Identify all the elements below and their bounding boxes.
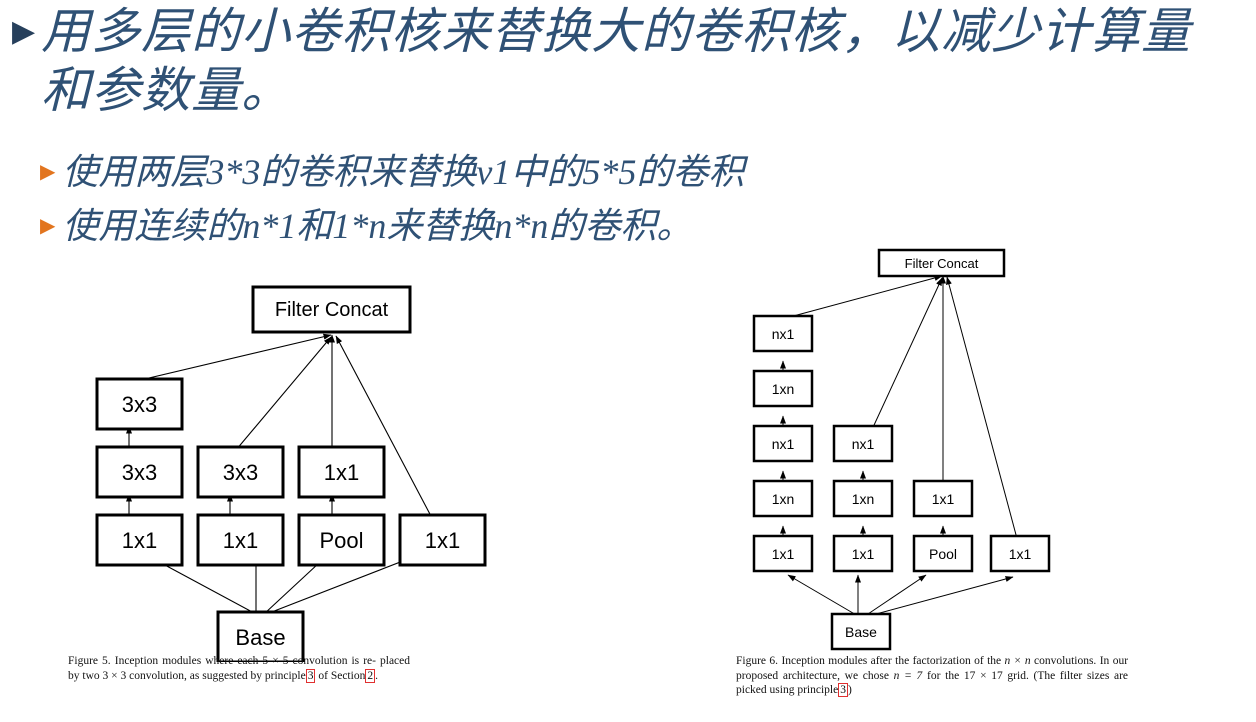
node-c1r5-label: nx1 — [772, 326, 795, 342]
node-filter-concat-label: Filter Concat — [275, 299, 389, 321]
node-filter-concat: Filter Concat — [879, 250, 1004, 276]
figure-6-caption-label: Figure 6. — [736, 655, 778, 667]
triangle-right-icon: ▶ — [12, 2, 35, 62]
node-c3r1-label: Pool — [929, 546, 957, 562]
figure-6-caption-math-nxn: n × n — [1005, 655, 1031, 667]
figure-5-svg: Filter Concat 3x3 3x3 1x1 3x3 1x1 1x1 — [60, 262, 490, 662]
triangle-right-icon: ▶ — [40, 150, 55, 194]
figure-6-caption-math-n7: n = 7 — [894, 670, 923, 682]
node-c4r1-label: 1x1 — [425, 528, 460, 553]
sub-bullet-2: ▶ 使用连续的n*1和1*n来替换n*n的卷积。 — [40, 204, 692, 248]
node-c3r2: 1x1 — [914, 481, 972, 516]
figure-6-caption-line1a: Inception modules after the factorizatio… — [781, 655, 1001, 667]
node-base-label: Base — [235, 625, 285, 650]
edge-base-to-c3r1 — [865, 575, 926, 616]
title-bullet-text: 用多层的小卷积核来替换大的卷积核，以减少计算量和参数量。 — [41, 2, 1192, 120]
node-c2r2-label: 3x3 — [223, 460, 258, 485]
node-base-label: Base — [845, 624, 877, 640]
reference-link-2[interactable]: 2 — [365, 669, 375, 683]
figure-5-caption-line2b: of — [318, 670, 328, 682]
node-c3r1-pool: Pool — [914, 536, 972, 571]
node-c4r1: 1x1 — [991, 536, 1049, 571]
edge-c1r5-to-concat — [786, 276, 942, 318]
edge-base-to-c1r1 — [788, 575, 858, 616]
edge-c1r3-to-concat — [132, 335, 331, 382]
node-c1r1-label: 1x1 — [772, 546, 795, 562]
slide-text-block: ▶ 用多层的小卷积核来替换大的卷积核，以减少计算量和参数量。 ▶ 使用两层3*3… — [0, 0, 1256, 260]
figure-5-diagram: Filter Concat 3x3 3x3 1x1 3x3 1x1 1x1 — [60, 262, 490, 662]
edge-c2r3-to-concat — [869, 278, 942, 436]
figure-6-caption-line2b: for — [927, 670, 940, 682]
node-base: Base — [832, 614, 890, 649]
node-c3r2: 1x1 — [299, 447, 384, 497]
node-c1r3-label: nx1 — [772, 436, 795, 452]
node-c1r3: nx1 — [754, 426, 812, 461]
sub-bullet-2-text: 使用连续的n*1和1*n来替换n*n的卷积。 — [62, 204, 692, 248]
node-c1r2: 3x3 — [97, 447, 182, 497]
edge-base-to-c4r1 — [865, 577, 1013, 617]
figure-5-caption-label: Figure 5. — [68, 655, 111, 667]
figure-6-diagram: Filter Concat nx1 1xn nx1 1xn 1x1 nx1 — [736, 248, 1076, 658]
node-filter-concat: Filter Concat — [253, 287, 410, 332]
node-c1r4: 1xn — [754, 371, 812, 406]
node-c3r1-pool: Pool — [299, 515, 384, 565]
node-c1r3: 3x3 — [97, 379, 182, 429]
figure-5-caption-line1: Inception modules where each 5 × 5 convo… — [115, 655, 376, 667]
node-c2r1-label: 1x1 — [223, 528, 258, 553]
figure-6-svg: Filter Concat nx1 1xn nx1 1xn 1x1 nx1 — [736, 248, 1076, 658]
triangle-right-icon: ▶ — [40, 204, 55, 248]
figure-5-caption-line3b: . — [375, 670, 378, 682]
figure-5-caption: Figure 5. Inception modules where each 5… — [68, 654, 410, 683]
node-c4r1-label: 1x1 — [1009, 546, 1032, 562]
node-filter-concat-label: Filter Concat — [905, 256, 979, 271]
node-c1r2-label: 3x3 — [122, 460, 157, 485]
node-c1r1: 1x1 — [97, 515, 182, 565]
node-c1r2: 1xn — [754, 481, 812, 516]
node-c2r3: nx1 — [834, 426, 892, 461]
node-c2r1: 1x1 — [834, 536, 892, 571]
node-c1r1-label: 1x1 — [122, 528, 157, 553]
node-c2r1-label: 1x1 — [852, 546, 875, 562]
node-c1r1: 1x1 — [754, 536, 812, 571]
node-c3r2-label: 1x1 — [324, 460, 359, 485]
node-c1r3-label: 3x3 — [122, 392, 157, 417]
node-c1r2-label: 1xn — [772, 491, 795, 507]
node-c4r1: 1x1 — [400, 515, 485, 565]
node-c1r4-label: 1xn — [772, 381, 795, 397]
figure-6-caption-line3b: ) — [848, 684, 852, 696]
node-c2r2: 1xn — [834, 481, 892, 516]
node-c2r1: 1x1 — [198, 515, 283, 565]
reference-link-3[interactable]: 3 — [306, 669, 316, 683]
node-c2r3-label: nx1 — [852, 436, 875, 452]
sub-bullet-1-text: 使用两层3*3的卷积来替换v1中的5*5的卷积 — [62, 150, 744, 194]
figure-6-caption: Figure 6. Inception modules after the fa… — [736, 654, 1128, 698]
node-c3r1-label: Pool — [319, 528, 363, 553]
figure-5-caption-line3a: Section — [331, 670, 366, 682]
title-bullet: ▶ 用多层的小卷积核来替换大的卷积核，以减少计算量和参数量。 — [12, 2, 1192, 120]
sub-bullet-1: ▶ 使用两层3*3的卷积来替换v1中的5*5的卷积 — [40, 150, 744, 194]
node-c2r2-label: 1xn — [852, 491, 875, 507]
node-c3r2-label: 1x1 — [932, 491, 955, 507]
node-c1r5: nx1 — [754, 316, 812, 351]
reference-link-3[interactable]: 3 — [838, 683, 848, 697]
node-c2r2: 3x3 — [198, 447, 283, 497]
